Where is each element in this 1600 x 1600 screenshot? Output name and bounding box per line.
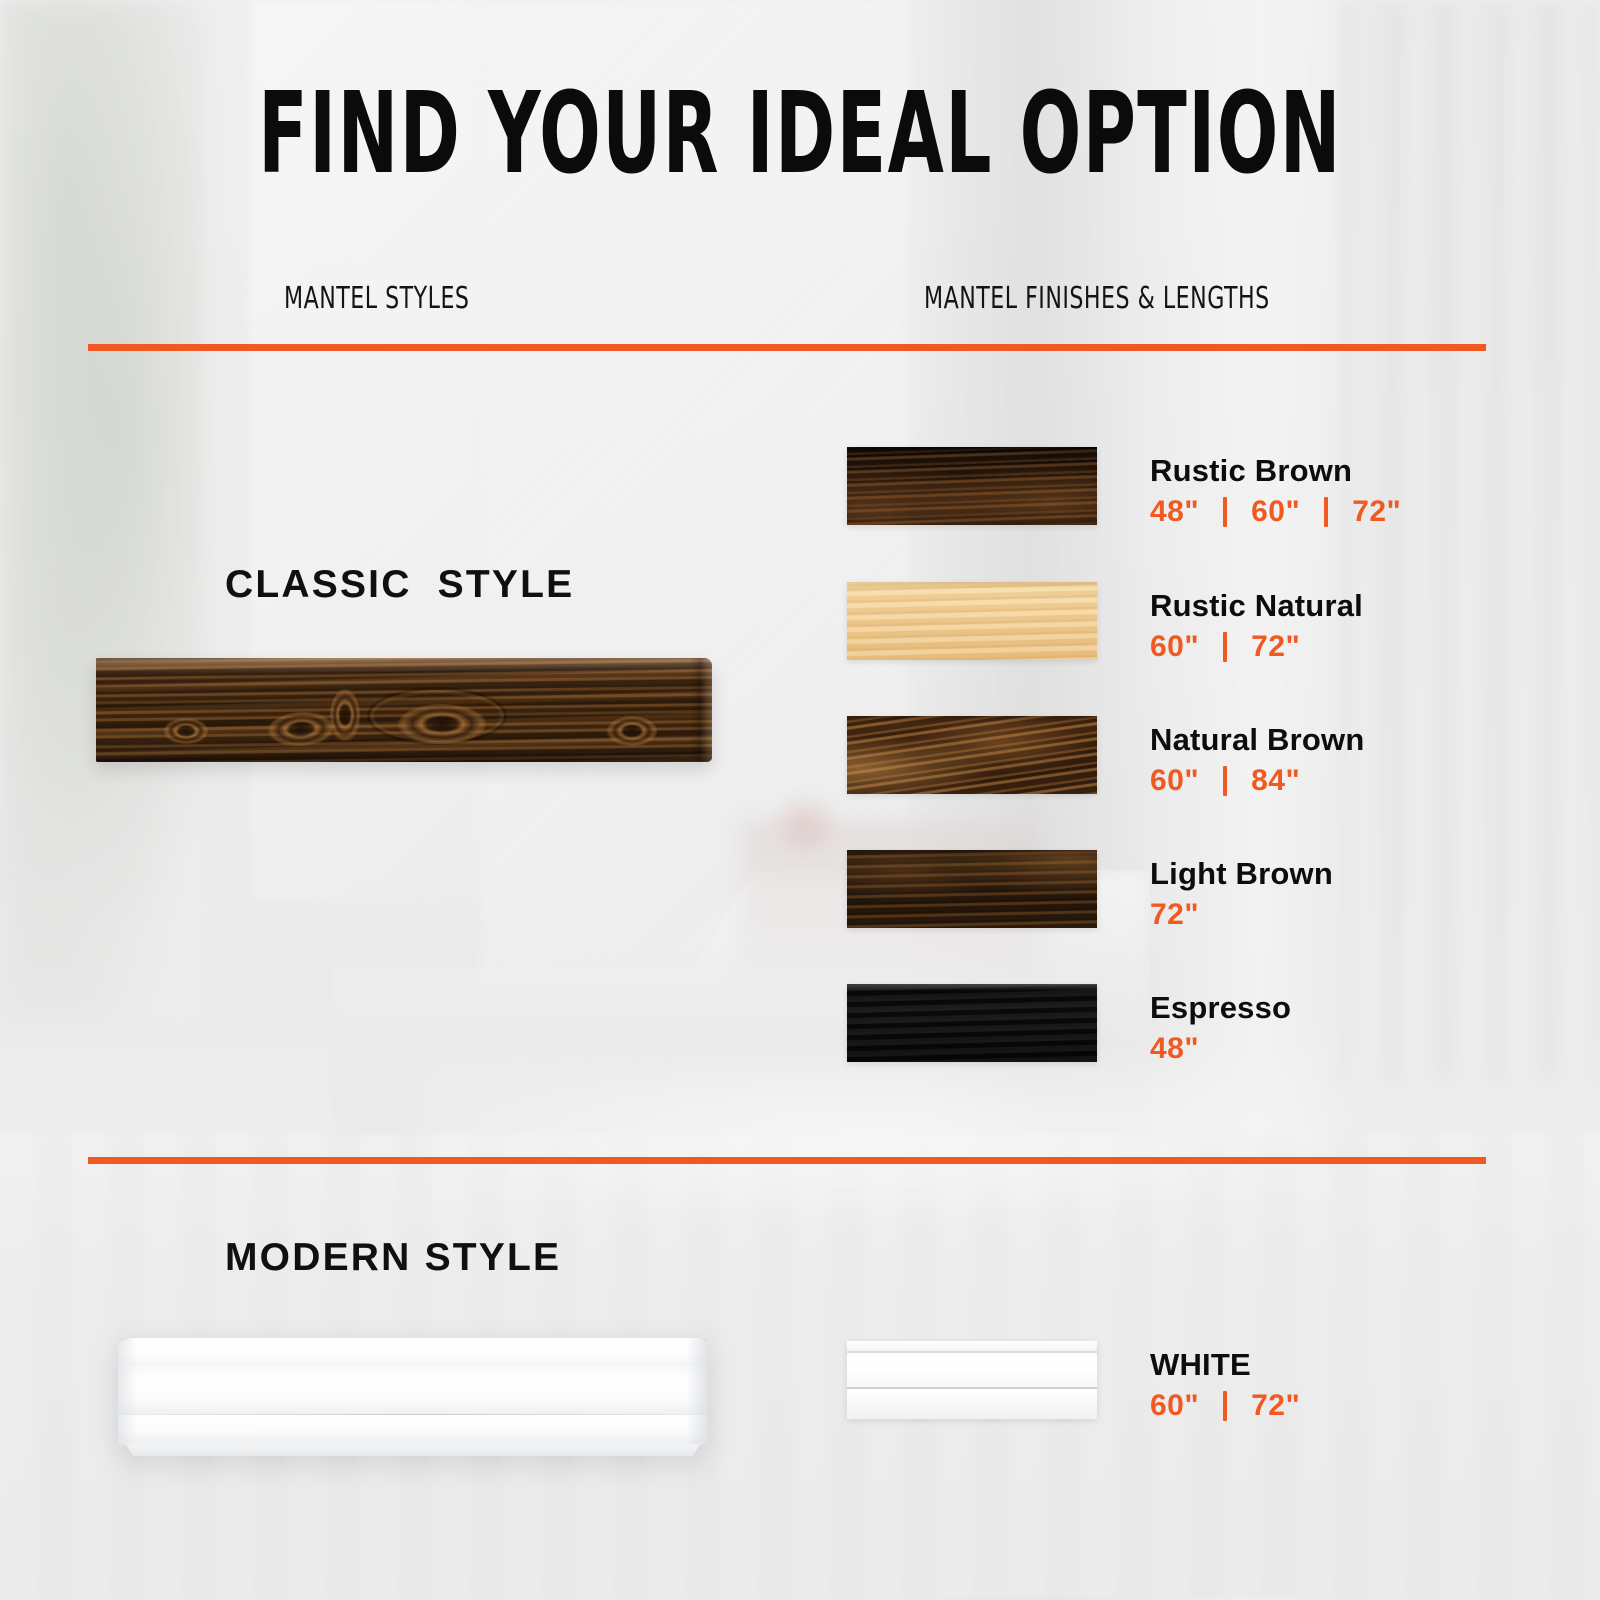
length-option[interactable]: 48" bbox=[1150, 495, 1199, 529]
finish-swatch-white[interactable] bbox=[847, 1341, 1097, 1419]
finish-name: Espresso bbox=[1150, 990, 1291, 1026]
divider-rule-bottom bbox=[88, 1157, 1486, 1164]
finish-name: Light Brown bbox=[1150, 856, 1333, 892]
finish-swatch-light-brown[interactable] bbox=[847, 850, 1097, 928]
wood-knot bbox=[164, 718, 208, 744]
finish-lengths: 48" 60" 72" bbox=[1150, 495, 1401, 529]
wood-knot bbox=[398, 704, 486, 744]
molding-foot bbox=[118, 1443, 708, 1456]
length-separator bbox=[1223, 497, 1227, 527]
swatch-knot bbox=[847, 716, 1097, 794]
finish-swatch-natural-brown[interactable] bbox=[847, 716, 1097, 794]
finish-lengths: 48" bbox=[1150, 1032, 1199, 1066]
column-header-finishes-lengths: MANTEL FINISHES & LENGTHS bbox=[924, 281, 1270, 316]
swatch-top-edge bbox=[847, 716, 1097, 723]
finish-name: Rustic Natural bbox=[1150, 588, 1363, 624]
molding-lower-face bbox=[118, 1415, 708, 1445]
molding-top-face bbox=[118, 1338, 708, 1368]
mantel-top-bevel bbox=[96, 658, 712, 673]
molding-right-return bbox=[686, 1338, 708, 1445]
swatch-top-edge bbox=[847, 850, 1097, 857]
swatch-top-edge bbox=[847, 984, 1097, 991]
divider-rule-top bbox=[88, 344, 1486, 351]
length-separator bbox=[1223, 632, 1227, 662]
finish-name: WHITE bbox=[1150, 1347, 1251, 1383]
mantel-bottom-shadow bbox=[96, 748, 712, 762]
finish-lengths: 60" 72" bbox=[1150, 630, 1300, 664]
swatch-knot bbox=[847, 850, 1097, 928]
mantel-right-edge bbox=[690, 658, 712, 762]
finish-name: Natural Brown bbox=[1150, 722, 1364, 758]
finish-swatch-rustic-natural[interactable] bbox=[847, 582, 1097, 660]
molding-body bbox=[118, 1338, 708, 1456]
swatch-cove bbox=[847, 1353, 1097, 1387]
swatch-grain bbox=[847, 984, 1097, 1062]
swatch-top-face bbox=[847, 1341, 1097, 1351]
modern-mantel-product-image bbox=[118, 1338, 708, 1456]
style-label-classic: CLASSIC STYLE bbox=[225, 563, 574, 607]
style-label-modern: MODERN STYLE bbox=[225, 1236, 561, 1280]
length-option[interactable]: 48" bbox=[1150, 1032, 1199, 1066]
finish-swatch-espresso[interactable] bbox=[847, 984, 1097, 1062]
swatch-top-edge bbox=[847, 582, 1097, 589]
swatch-top-edge bbox=[847, 447, 1097, 454]
swatch-knot bbox=[847, 447, 1097, 525]
molding-left-return bbox=[118, 1338, 138, 1445]
length-option[interactable]: 60" bbox=[1150, 630, 1199, 664]
swatch-grain bbox=[847, 582, 1097, 660]
finish-lengths: 72" bbox=[1150, 898, 1199, 932]
wood-knot bbox=[330, 689, 360, 741]
finish-lengths: 60" 72" bbox=[1150, 1389, 1300, 1423]
molding-cove bbox=[118, 1365, 708, 1415]
length-option[interactable]: 72" bbox=[1150, 898, 1199, 932]
swatch-lower-face bbox=[847, 1389, 1097, 1419]
length-option[interactable]: 60" bbox=[1150, 1389, 1199, 1423]
length-option[interactable]: 72" bbox=[1251, 630, 1300, 664]
finish-swatch-rustic-brown[interactable] bbox=[847, 447, 1097, 525]
column-header-mantel-styles: MANTEL STYLES bbox=[284, 281, 469, 316]
finish-lengths: 60" 84" bbox=[1150, 764, 1300, 798]
length-separator bbox=[1223, 766, 1227, 796]
length-option[interactable]: 72" bbox=[1352, 495, 1401, 529]
finish-name: Rustic Brown bbox=[1150, 453, 1352, 489]
classic-mantel-product-image bbox=[96, 658, 712, 762]
length-separator bbox=[1324, 497, 1328, 527]
length-option[interactable]: 72" bbox=[1251, 1389, 1300, 1423]
length-option[interactable]: 60" bbox=[1251, 495, 1300, 529]
length-option[interactable]: 84" bbox=[1251, 764, 1300, 798]
length-separator bbox=[1223, 1391, 1227, 1421]
length-option[interactable]: 60" bbox=[1150, 764, 1199, 798]
page-title: FIND YOUR IDEAL OPTION bbox=[224, 78, 1376, 190]
